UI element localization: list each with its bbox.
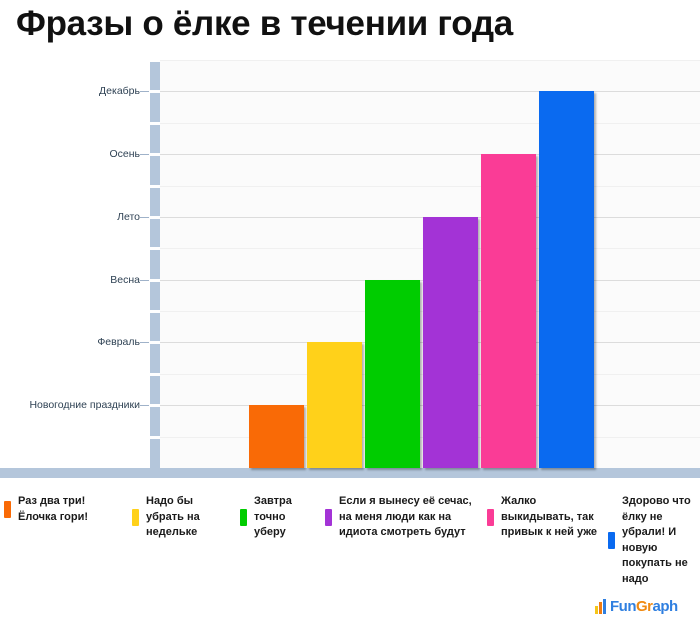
chart-legend: Раз два три! Ёлочка гори!Надо бы убрать … — [0, 494, 700, 604]
legend-item[interactable]: Жалко выкидывать, так привык к ней уже — [487, 494, 602, 541]
logo-text-aph: aph — [653, 598, 678, 615]
logo-bars-icon — [595, 599, 607, 614]
legend-label: Здорово что ёлку не убрали! И новую поку… — [622, 494, 698, 587]
bar[interactable] — [539, 91, 594, 468]
legend-item[interactable]: Завтра точно уберу — [240, 494, 318, 541]
x-axis — [0, 468, 700, 478]
legend-label: Если я вынесу её сечас, на меня люди как… — [339, 494, 480, 541]
logo-bar-icon — [595, 606, 598, 614]
page-title: Фразы о ёлке в течении года — [16, 4, 513, 44]
bars-layer — [0, 60, 700, 468]
bar[interactable] — [249, 405, 304, 468]
legend-color-swatch — [240, 509, 247, 526]
legend-color-swatch — [325, 509, 332, 526]
legend-item[interactable]: Здорово что ёлку не убрали! И новую поку… — [608, 494, 698, 587]
legend-item[interactable]: Надо бы убрать на недельке — [132, 494, 232, 541]
legend-item[interactable]: Если я вынесу её сечас, на меня люди как… — [325, 494, 480, 541]
legend-label: Жалко выкидывать, так привык к ней уже — [501, 494, 602, 541]
legend-label: Надо бы убрать на недельке — [146, 494, 232, 541]
bar[interactable] — [481, 154, 536, 468]
logo-text-fun: Fun — [610, 598, 636, 615]
legend-item[interactable]: Раз два три! Ёлочка гори! — [4, 494, 126, 525]
bar-chart: ДекабрьОсеньЛетоВеснаФевральНовогодние п… — [0, 52, 700, 477]
logo-text: FunGraph — [610, 599, 678, 614]
legend-color-swatch — [608, 532, 615, 549]
bar[interactable] — [423, 217, 478, 468]
bar[interactable] — [365, 280, 420, 468]
fungraph-logo: FunGraph — [595, 592, 695, 614]
legend-color-swatch — [132, 509, 139, 526]
legend-color-swatch — [4, 501, 11, 518]
logo-bar-icon — [599, 602, 602, 614]
bar[interactable] — [307, 342, 362, 468]
logo-bar-icon — [603, 599, 606, 614]
legend-color-swatch — [487, 509, 494, 526]
legend-label: Раз два три! Ёлочка гори! — [18, 494, 126, 525]
logo-text-gr: Gr — [636, 598, 653, 615]
legend-label: Завтра точно уберу — [254, 494, 318, 541]
